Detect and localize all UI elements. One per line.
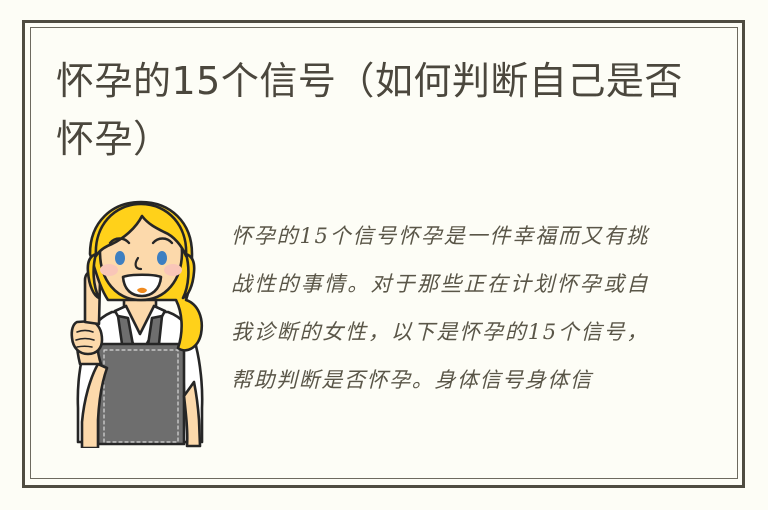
article-page: 怀孕的15个信号（如何判断自己是否怀孕） [0,0,768,510]
illustration-cartoon-woman [68,196,214,448]
page-title: 怀孕的15个信号（如何判断自己是否怀孕） [56,52,696,168]
article-body-text: 怀孕的15个信号怀孕是一件幸福而又有挑战性的事情。对于那些正在计划怀孕或自我诊断… [231,212,649,404]
cartoon-woman-pointing-up-icon [68,196,214,448]
